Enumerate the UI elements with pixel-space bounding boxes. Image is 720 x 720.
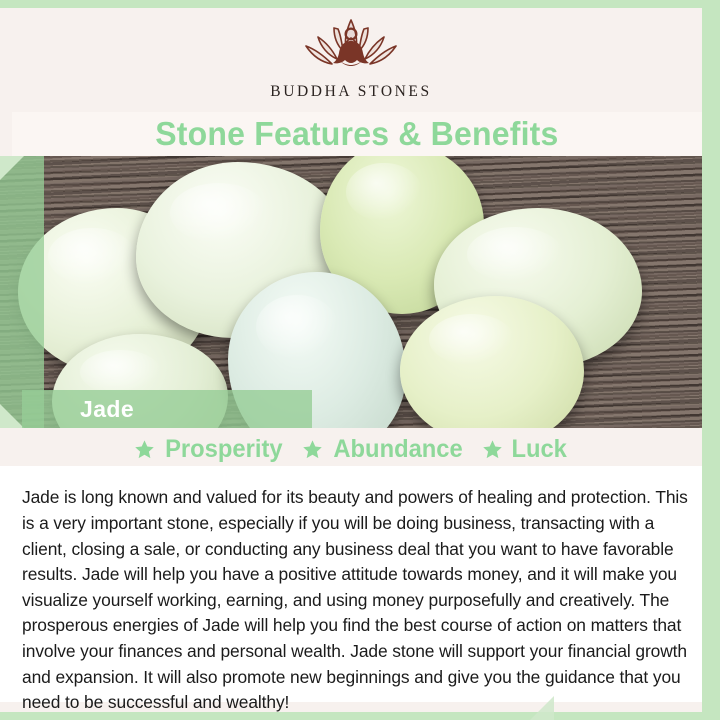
stone-name-band: Jade	[22, 390, 312, 428]
lotus-meditation-icon	[290, 14, 412, 80]
keyword-item: Prosperity	[134, 435, 286, 464]
keyword-item: Abundance	[302, 435, 466, 464]
brand-name: BUDDHA STONES	[0, 83, 702, 101]
keyword-item: Luck	[482, 435, 568, 464]
keyword-label: Prosperity	[165, 435, 282, 464]
description-paragraph: Jade is long known and valued for its be…	[22, 485, 690, 715]
title-banner: Stone Features & Benefits	[12, 112, 702, 156]
star-icon	[134, 439, 155, 460]
keyword-row: Prosperity Abundance Luck	[0, 432, 702, 466]
keyword-label: Luck	[511, 435, 566, 464]
stone-name: Jade	[80, 396, 134, 423]
star-icon	[302, 439, 323, 460]
photo-green-ribbon	[0, 156, 44, 428]
stone-benefits-poster: BUDDHA STONES Stone Features & Benefits …	[0, 0, 720, 720]
brand-logo: BUDDHA STONES	[0, 14, 702, 101]
keyword-label: Abundance	[333, 435, 462, 464]
brand-header: BUDDHA STONES	[0, 8, 702, 112]
jade-stones-photo	[0, 156, 702, 428]
page-title: Stone Features & Benefits	[155, 115, 558, 153]
content-card: BUDDHA STONES Stone Features & Benefits …	[0, 8, 702, 712]
description-area: Jade is long known and valued for its be…	[0, 466, 702, 702]
star-icon	[482, 439, 503, 460]
